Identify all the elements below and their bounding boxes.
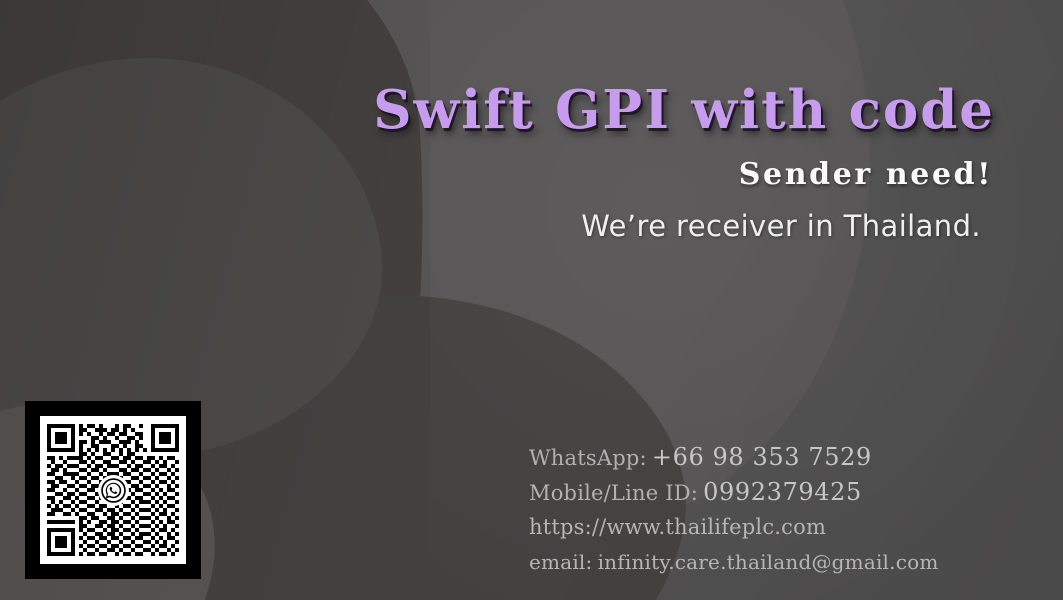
mobile-label: Mobile/Line ID:: [529, 481, 698, 505]
contact-email[interactable]: email: infinity.care.thailand@gmail.com: [529, 545, 939, 580]
page-title: Swift GPI with code: [373, 84, 995, 137]
headline-block: Swift GPI with code Sender need! We’re r…: [0, 0, 1063, 270]
contact-block: WhatsApp: +66 98 353 7529 Mobile/Line ID…: [529, 440, 939, 580]
email-label: email:: [529, 550, 592, 574]
website-url[interactable]: https://www.thailifeplc.com: [529, 515, 826, 539]
subtitle: Sender need!: [739, 160, 993, 190]
contact-mobile-line-id[interactable]: Mobile/Line ID: 0992379425: [529, 475, 939, 510]
whatsapp-value[interactable]: +66 98 353 7529: [652, 443, 872, 471]
whatsapp-icon: [98, 475, 129, 506]
tagline: We’re receiver in Thailand.: [581, 212, 981, 241]
mobile-value[interactable]: 0992379425: [703, 478, 862, 506]
email-value[interactable]: infinity.care.thailand@gmail.com: [598, 550, 939, 574]
contact-website[interactable]: https://www.thailifeplc.com: [529, 510, 939, 545]
qr-code-surface[interactable]: [40, 416, 186, 564]
qr-code-card[interactable]: [25, 401, 201, 579]
whatsapp-label: WhatsApp:: [529, 446, 647, 470]
business-card: Swift GPI with code Sender need! We’re r…: [0, 0, 1063, 600]
contact-whatsapp[interactable]: WhatsApp: +66 98 353 7529: [529, 440, 939, 475]
